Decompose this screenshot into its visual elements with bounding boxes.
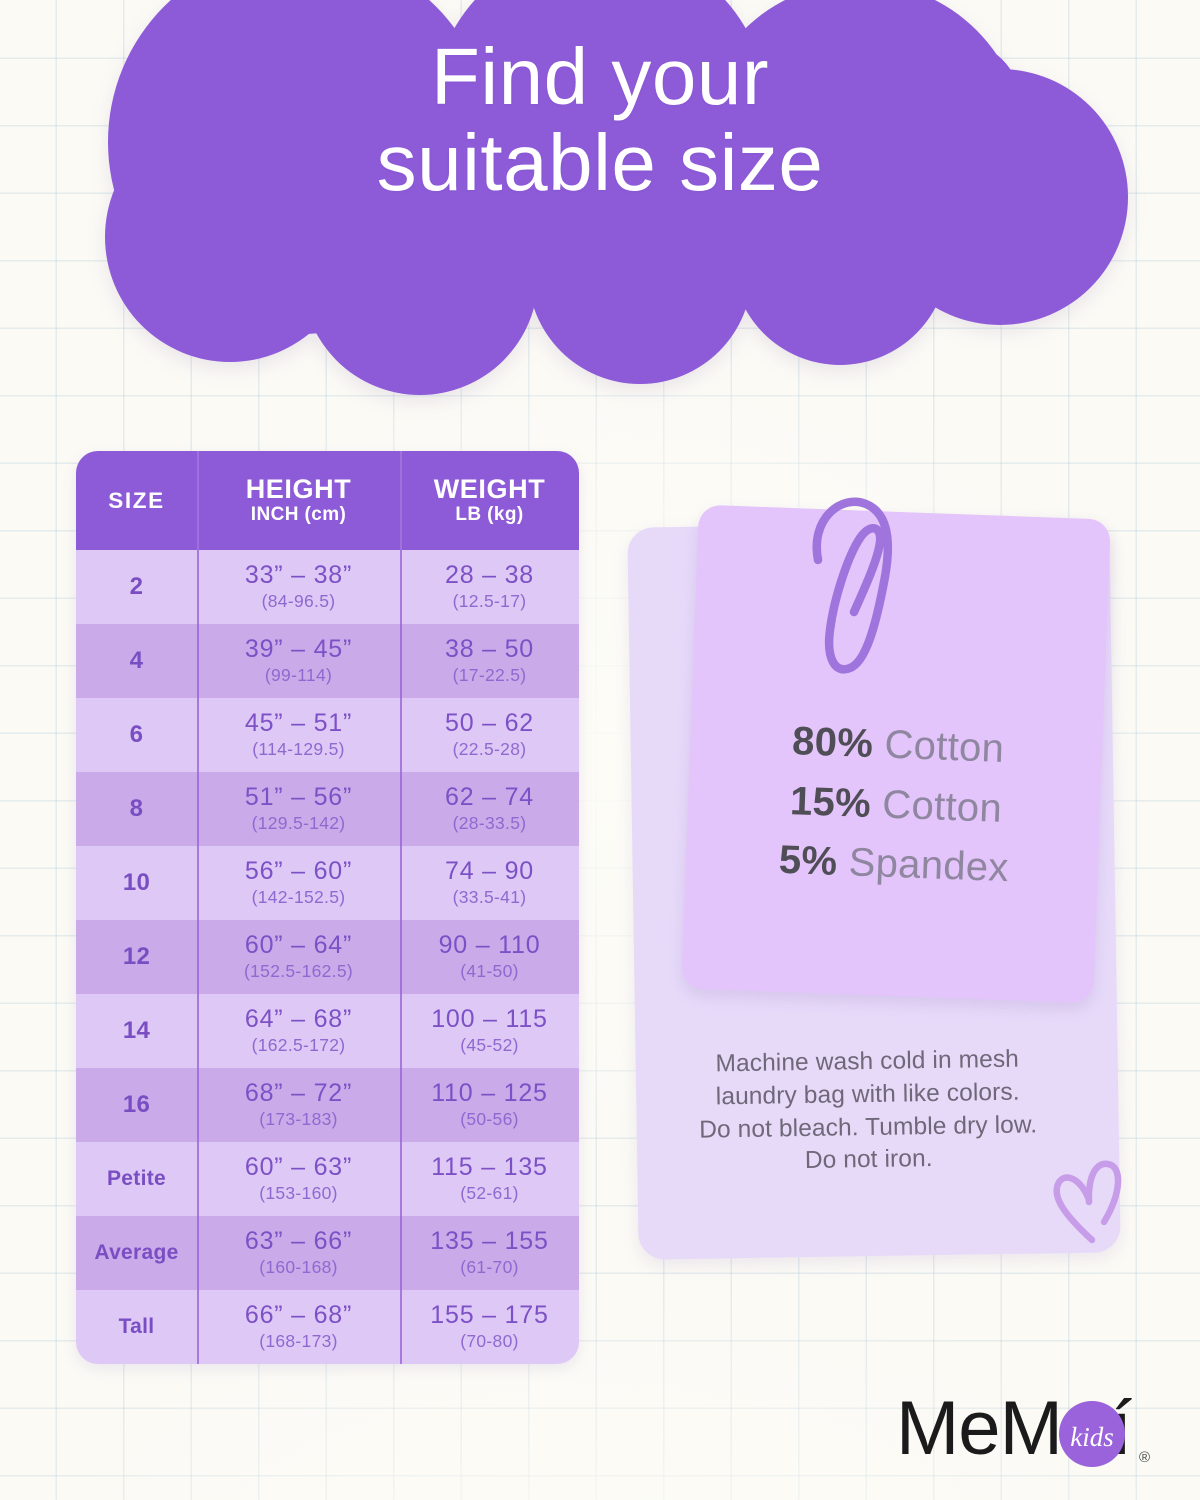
table-row: 233” – 38”(84-96.5)28 – 38(12.5-17) xyxy=(76,550,579,624)
cell-height-inch: 51” – 56” xyxy=(197,784,400,810)
cell-weight-kg: (61-70) xyxy=(400,1257,579,1278)
care-line-4: Do not iron. xyxy=(649,1141,1089,1181)
composition-material: Cotton xyxy=(882,782,1003,830)
composition-percent: 80% xyxy=(791,719,874,766)
cell-weight-lb: 62 – 74 xyxy=(400,784,579,810)
care-instructions: Machine wash cold in mesh laundry bag wi… xyxy=(647,1043,1089,1181)
cell-size: 16 xyxy=(76,1091,197,1119)
cell-weight-kg: (52-61) xyxy=(400,1183,579,1204)
size-chart-table: SIZE HEIGHT INCH (cm) WEIGHT LB (kg) 233… xyxy=(76,451,579,1364)
column-header-weight-sub: LB (kg) xyxy=(400,504,579,526)
table-row: 1056” – 60”(142-152.5)74 – 90(33.5-41) xyxy=(76,846,579,920)
cell-weight-kg: (33.5-41) xyxy=(400,887,579,908)
column-header-weight-main: WEIGHT xyxy=(400,475,579,504)
cell-height-inch: 60” – 63” xyxy=(197,1154,400,1180)
cell-weight-lb: 135 – 155 xyxy=(400,1228,579,1254)
cell-height-inch: 60” – 64” xyxy=(197,932,400,958)
cell-size: 14 xyxy=(76,1017,197,1045)
cell-weight-kg: (70-80) xyxy=(400,1331,579,1352)
cell-weight-lb: 28 – 38 xyxy=(400,562,579,588)
cell-height-inch: 56” – 60” xyxy=(197,858,400,884)
table-body: 233” – 38”(84-96.5)28 – 38(12.5-17)439” … xyxy=(76,550,579,1364)
cell-size: Average xyxy=(76,1241,197,1265)
cell-size: 12 xyxy=(76,943,197,971)
composition-list: 80% Cotton15% Cotton5% Spandex xyxy=(687,709,1105,903)
cell-weight-kg: (12.5-17) xyxy=(400,591,579,612)
registered-mark: ® xyxy=(1139,1449,1150,1466)
composition-material: Cotton xyxy=(884,723,1005,771)
composition-percent: 5% xyxy=(778,838,838,884)
cell-weight-lb: 74 – 90 xyxy=(400,858,579,884)
column-divider-2 xyxy=(400,451,402,1364)
cell-weight-lb: 50 – 62 xyxy=(400,710,579,736)
table-row: Average63” – 66”(160-168)135 – 155(61-70… xyxy=(76,1216,579,1290)
cell-weight-lb: 100 – 115 xyxy=(400,1006,579,1032)
cell-weight-kg: (50-56) xyxy=(400,1109,579,1130)
cell-height-cm: (99-114) xyxy=(197,665,400,686)
table-row: Petite60” – 63”(153-160)115 – 135(52-61) xyxy=(76,1142,579,1216)
cell-height-inch: 33” – 38” xyxy=(197,562,400,588)
cell-height-cm: (168-173) xyxy=(197,1331,400,1352)
column-header-weight: WEIGHT LB (kg) xyxy=(400,475,579,527)
cell-height-inch: 64” – 68” xyxy=(197,1006,400,1032)
kids-badge-label: kids xyxy=(1070,1422,1114,1452)
table-row: 439” – 45”(99-114)38 – 50(17-22.5) xyxy=(76,624,579,698)
column-header-size: SIZE xyxy=(76,488,197,514)
cell-weight-lb: 115 – 135 xyxy=(400,1154,579,1180)
cell-weight-kg: (45-52) xyxy=(400,1035,579,1056)
cell-height-inch: 39” – 45” xyxy=(197,636,400,662)
column-header-height-sub: INCH (cm) xyxy=(197,504,400,526)
cell-weight-lb: 110 – 125 xyxy=(400,1080,579,1106)
cell-height-cm: (173-183) xyxy=(197,1109,400,1130)
cell-size: 8 xyxy=(76,795,197,823)
composition-percent: 15% xyxy=(789,779,872,826)
cell-size: 2 xyxy=(76,573,197,601)
cell-height-cm: (152.5-162.5) xyxy=(197,961,400,982)
table-header-row: SIZE HEIGHT INCH (cm) WEIGHT LB (kg) xyxy=(76,451,579,550)
table-row: Tall66” – 68”(168-173)155 – 175(70-80) xyxy=(76,1290,579,1364)
column-divider-1-header xyxy=(197,451,199,550)
column-header-height: HEIGHT INCH (cm) xyxy=(197,475,400,527)
cell-height-cm: (142-152.5) xyxy=(197,887,400,908)
cell-height-cm: (162.5-172) xyxy=(197,1035,400,1056)
cell-height-cm: (153-160) xyxy=(197,1183,400,1204)
cell-height-inch: 66” – 68” xyxy=(197,1302,400,1328)
table-row: 851” – 56”(129.5-142)62 – 74(28-33.5) xyxy=(76,772,579,846)
table-row: 1260” – 64”(152.5-162.5)90 – 110(41-50) xyxy=(76,920,579,994)
cell-size: 10 xyxy=(76,869,197,897)
column-divider-2-header xyxy=(400,451,402,550)
cell-height-cm: (114-129.5) xyxy=(197,739,400,760)
cell-weight-kg: (17-22.5) xyxy=(400,665,579,686)
cell-height-cm: (160-168) xyxy=(197,1257,400,1278)
cell-size: 6 xyxy=(76,721,197,749)
column-header-height-main: HEIGHT xyxy=(197,475,400,504)
paperclip-icon xyxy=(800,490,910,690)
cell-size: Petite xyxy=(76,1167,197,1191)
memoi-kids-logo: MeMo í kids ® xyxy=(896,1392,1166,1488)
cell-weight-lb: 90 – 110 xyxy=(400,932,579,958)
cell-size: 4 xyxy=(76,647,197,675)
column-divider-1 xyxy=(197,451,199,1364)
page-title: Find your suitable size xyxy=(0,34,1200,207)
cell-height-cm: (129.5-142) xyxy=(197,813,400,834)
cell-height-inch: 68” – 72” xyxy=(197,1080,400,1106)
cell-height-cm: (84-96.5) xyxy=(197,591,400,612)
cell-height-inch: 45” – 51” xyxy=(197,710,400,736)
title-line-1: Find your xyxy=(0,34,1200,120)
table-row: 1668” – 72”(173-183)110 – 125(50-56) xyxy=(76,1068,579,1142)
table-row: 1464” – 68”(162.5-172)100 – 115(45-52) xyxy=(76,994,579,1068)
heart-icon xyxy=(1048,1158,1134,1250)
cell-weight-kg: (41-50) xyxy=(400,961,579,982)
table-row: 645” – 51”(114-129.5)50 – 62(22.5-28) xyxy=(76,698,579,772)
cell-weight-lb: 38 – 50 xyxy=(400,636,579,662)
cell-weight-kg: (22.5-28) xyxy=(400,739,579,760)
cell-weight-kg: (28-33.5) xyxy=(400,813,579,834)
cell-height-inch: 63” – 66” xyxy=(197,1228,400,1254)
title-line-2: suitable size xyxy=(0,120,1200,206)
cell-weight-lb: 155 – 175 xyxy=(400,1302,579,1328)
composition-material: Spandex xyxy=(848,841,1010,891)
cell-size: Tall xyxy=(76,1315,197,1339)
